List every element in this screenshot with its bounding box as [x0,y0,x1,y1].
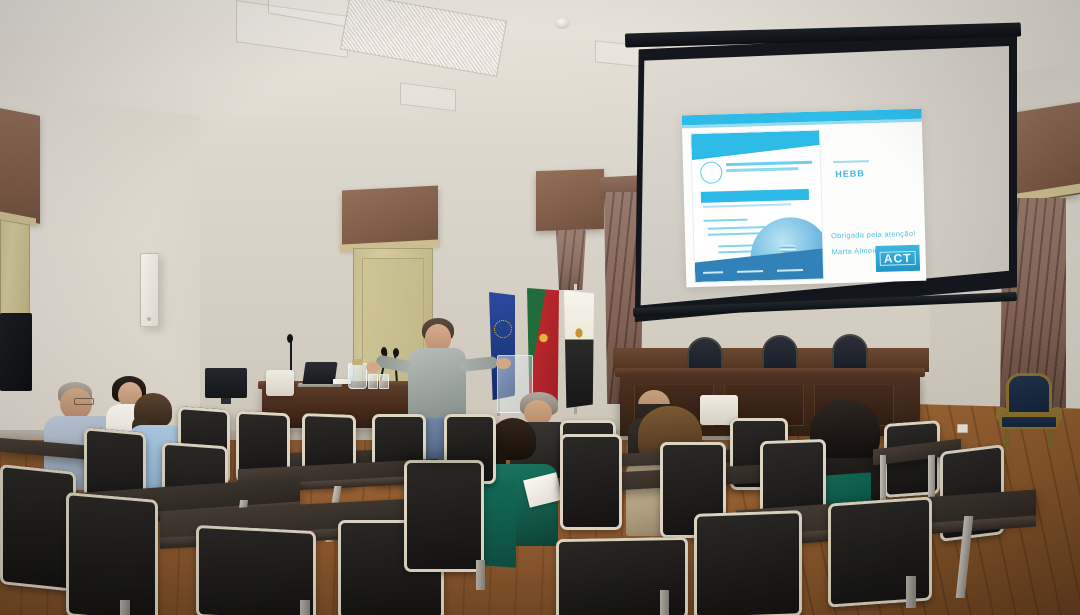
window-valance-left [0,108,40,224]
window-valance-center [342,185,438,248]
chair-foreground[interactable] [196,525,316,615]
brand-underline [833,160,869,163]
presenter-left-hand [366,362,380,373]
antique-chair-leg [1048,429,1054,449]
water-carafe [348,363,367,389]
wall-monitor-left [0,313,32,391]
presenter-right-hand [496,358,511,369]
presenter-shadow [400,452,490,468]
poster-banner [701,189,809,203]
chair[interactable] [828,496,932,607]
poster-title-line [726,167,798,172]
antique-armchair [996,373,1062,451]
slide-thanks-text: Obrigada pela atenção! [831,229,916,240]
chair-leg [120,600,130,615]
side-monitor [205,368,247,398]
chair[interactable] [560,434,622,530]
chair[interactable] [404,460,484,572]
papers-on-desk [333,379,351,384]
poster-subtitle-line [703,203,791,207]
slide-brand-text: HEBB [835,168,865,179]
chair-leg [660,590,669,615]
chair-foreground[interactable] [694,510,802,615]
poster-logo-icon [700,161,723,184]
slide-poster-image [690,130,824,284]
presenter-shirt [408,348,466,422]
antique-chair-leg [1004,429,1010,449]
drinking-glass [368,374,378,389]
act-logo: ACT [875,245,920,272]
microphone-icon [287,334,293,343]
conference-room-photo: HEBB Obrigada pela atenção! Marta Almeid… [0,0,1080,615]
drinking-glass [379,374,389,389]
act-logo-text: ACT [880,251,916,266]
smoke-detector-icon [556,18,569,27]
chair-leg [300,600,310,615]
antique-chair-back [1006,373,1052,415]
poster-text-line [704,219,748,222]
chair-leg [906,576,916,608]
wall-outlet [957,424,968,433]
poster-text-line [708,232,762,236]
glasses-icon [74,398,94,405]
wall-speaker [140,253,159,327]
microphone-icon [393,348,399,357]
chair[interactable] [66,492,158,615]
chair[interactable] [0,464,76,592]
presenter-desk-chair [266,370,294,396]
antique-chair-seat [1000,415,1058,429]
presentation-slide: HEBB Obrigada pela atenção! Marta Almeid… [682,109,927,288]
window-valance-right-center [536,169,604,231]
chair-leg [476,560,485,590]
poster-title-line [726,161,812,166]
flag-municipal [564,290,594,408]
curtain-fold [556,230,586,290]
poster-header-wedge [691,131,820,161]
